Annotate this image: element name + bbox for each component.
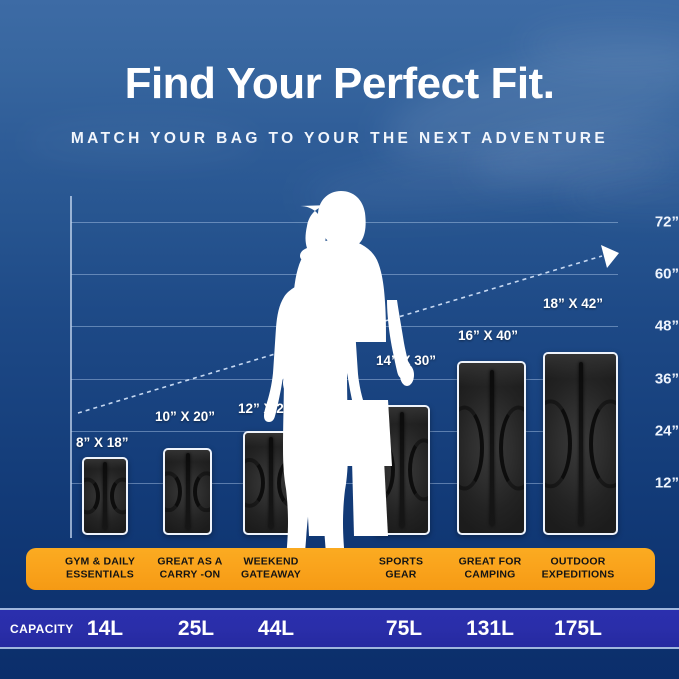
- use-case-line-1: WEEKEND: [216, 556, 326, 569]
- gridline: [71, 222, 618, 223]
- bag-size-label: 8” X 18”: [76, 435, 129, 450]
- use-case-cell: OUTDOOREXPEDITIONS: [523, 556, 633, 583]
- bag-center-seam: [103, 462, 107, 530]
- bag-arc-left: [243, 458, 265, 508]
- bag-arc-right: [408, 438, 430, 501]
- bag-size-label: 18” X 42”: [543, 296, 603, 311]
- bag-size-label: 16” X 40”: [458, 328, 518, 343]
- capacity-value: 25L: [151, 617, 241, 641]
- bag-bar[interactable]: [163, 448, 212, 535]
- bag-size-label: 12” X 24”: [238, 401, 298, 416]
- capacity-band: CAPACITY 14L25L44L75L131L175L: [0, 608, 679, 649]
- bag-arc-left: [82, 477, 100, 514]
- bag-center-seam: [400, 412, 404, 528]
- y-axis-tick-label: 24”: [627, 422, 679, 439]
- gridline: [71, 379, 618, 380]
- capacity-value: 175L: [533, 617, 623, 641]
- bag-arc-left: [163, 471, 182, 512]
- y-axis-line: [70, 196, 72, 538]
- use-case-line-1: OUTDOOR: [523, 556, 633, 569]
- bag-arc-right: [589, 399, 618, 488]
- bag-center-seam: [490, 370, 494, 526]
- infographic-canvas: Find Your Perfect Fit. MATCH YOUR BAG TO…: [0, 0, 679, 679]
- bag-arc-left: [373, 438, 395, 501]
- use-case-band: GYM & DAILYESSENTIALSGREAT AS ACARRY -ON…: [26, 548, 655, 590]
- bag-bar[interactable]: [457, 361, 526, 535]
- capacity-value: 14L: [60, 617, 150, 641]
- capacity-value: 44L: [231, 617, 321, 641]
- y-axis-tick-label: 36”: [627, 370, 679, 387]
- bag-size-label: 10” X 20”: [155, 409, 215, 424]
- bag-center-seam: [186, 453, 190, 529]
- bag-center-seam: [579, 362, 583, 526]
- gridline: [71, 326, 618, 327]
- gridline: [71, 431, 618, 432]
- use-case-line-2: EXPEDITIONS: [523, 569, 633, 582]
- y-axis-tick-label: 60”: [627, 266, 679, 283]
- bag-arc-left: [543, 399, 572, 488]
- y-axis-tick-label: 72”: [627, 214, 679, 231]
- gridline: [71, 483, 618, 484]
- bag-arc-right: [193, 471, 212, 512]
- bag-bar[interactable]: [243, 431, 299, 535]
- bag-size-label: 14” X 30”: [376, 353, 436, 368]
- y-axis-tick-label: 12”: [627, 474, 679, 491]
- bag-arc-right: [499, 406, 526, 491]
- bag-bar[interactable]: [543, 352, 618, 535]
- bag-bar[interactable]: [82, 457, 128, 535]
- bag-center-seam: [269, 437, 273, 529]
- bag-bar[interactable]: [373, 405, 430, 535]
- use-case-cell: WEEKENDGATEAWAY: [216, 556, 326, 583]
- use-case-line-2: GATEAWAY: [216, 569, 326, 582]
- bag-arc-right: [277, 458, 299, 508]
- bag-arc-right: [110, 477, 128, 514]
- bag-arc-left: [457, 406, 484, 491]
- capacity-value: 131L: [445, 617, 535, 641]
- capacity-value: 75L: [359, 617, 449, 641]
- gridline: [71, 274, 618, 275]
- y-axis-tick-label: 48”: [627, 318, 679, 335]
